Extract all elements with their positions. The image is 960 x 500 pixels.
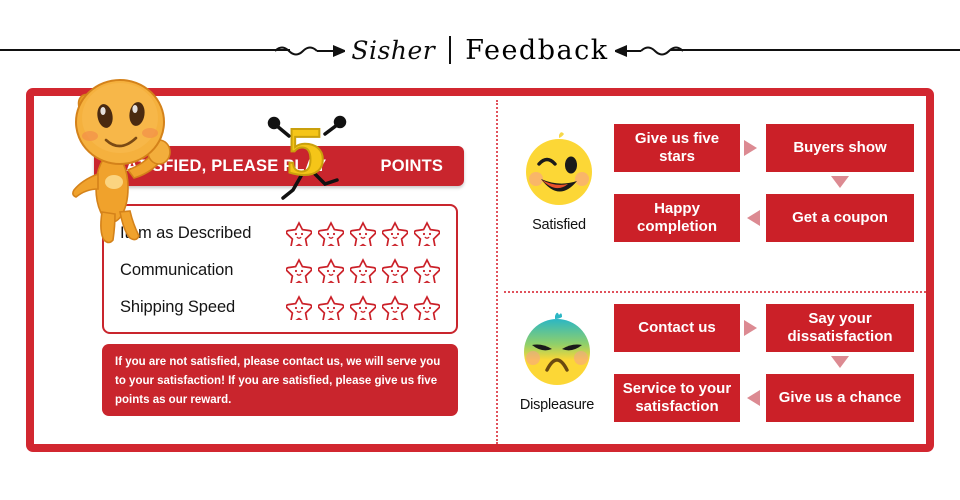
smiley-star-icon xyxy=(414,221,440,246)
flow-step-give-us-a-chance[interactable]: Give us a chance xyxy=(766,374,914,422)
smiley-star-icon xyxy=(350,221,376,246)
flow-step-service-to-your-satisfaction[interactable]: Service to your satisfaction xyxy=(614,374,740,422)
smiley-star-icon xyxy=(382,258,408,283)
arrow-left-icon xyxy=(747,210,760,226)
satisfied-caption: Satisfied xyxy=(504,217,614,233)
main-card: SATISFIED, PLEASE PLAY POINTS 5 Item xyxy=(26,88,934,452)
smiley-star-icon xyxy=(318,221,344,246)
displeasure-face-block: Displeasure xyxy=(502,312,612,413)
right-panel: Satisfied Give us five stars Buyers show… xyxy=(504,104,926,444)
rating-stars xyxy=(286,295,440,320)
arrow-down-icon xyxy=(831,356,849,368)
satisfied-face-block: Satisfied xyxy=(504,132,614,233)
smiley-star-icon xyxy=(350,258,376,283)
flow-step-say-your-dissatisfaction[interactable]: Say your dissatisfaction xyxy=(766,304,914,352)
arrow-right-icon xyxy=(744,320,757,336)
five-glyph: 5 xyxy=(284,116,327,189)
smiley-star-icon xyxy=(414,258,440,283)
displeasure-caption: Displeasure xyxy=(502,397,612,413)
smiley-star-icon xyxy=(382,295,408,320)
smiley-star-icon xyxy=(286,221,312,246)
flow-step-buyers-show[interactable]: Buyers show xyxy=(766,124,914,172)
header-title-group: Sisher Feedback xyxy=(320,22,640,78)
title-separator xyxy=(449,36,451,64)
arrow-down-icon xyxy=(831,176,849,188)
smiley-star-icon xyxy=(286,258,312,283)
header-rule-right xyxy=(670,49,960,51)
smiley-star-icon xyxy=(318,258,344,283)
smiley-star-icon xyxy=(286,295,312,320)
rating-label: Shipping Speed xyxy=(120,298,286,317)
horizontal-dotted-divider xyxy=(504,291,926,293)
rating-label: Communication xyxy=(120,261,286,280)
page-title: Feedback xyxy=(465,35,608,66)
left-panel: SATISFIED, PLEASE PLAY POINTS 5 Item xyxy=(42,104,488,444)
running-number-five-icon: 5 xyxy=(263,110,349,202)
rating-stars xyxy=(286,221,440,246)
satisfaction-note: If you are not satisfied, please contact… xyxy=(102,344,458,416)
smiley-star-icon xyxy=(350,295,376,320)
arrow-left-icon xyxy=(747,390,760,406)
smiley-star-icon xyxy=(414,295,440,320)
sad-frowning-face-icon xyxy=(519,312,595,388)
arrow-right-icon xyxy=(744,140,757,156)
banner-text-after: POINTS xyxy=(380,157,443,176)
flow-step-happy-completion[interactable]: Happy completion xyxy=(614,194,740,242)
table-row: Shipping Speed xyxy=(104,289,456,326)
rating-stars xyxy=(286,258,440,283)
flow-step-contact-us[interactable]: Contact us xyxy=(614,304,740,352)
feedback-infographic: Sisher Feedback SATISFIED, PLEASE PLAY P… xyxy=(0,0,960,500)
vertical-dotted-divider xyxy=(496,100,498,444)
header-rule-left xyxy=(0,49,290,51)
flow-step-get-a-coupon[interactable]: Get a coupon xyxy=(766,194,914,242)
flow-step-give-us-five-stars[interactable]: Give us five stars xyxy=(614,124,740,172)
smiley-star-icon xyxy=(382,221,408,246)
winking-smiley-face-icon xyxy=(521,132,597,208)
brand-name: Sisher xyxy=(351,36,435,65)
table-row: Communication xyxy=(104,252,456,289)
smiley-star-icon xyxy=(318,295,344,320)
orange-mascot-thumbs-up-icon xyxy=(58,66,186,244)
